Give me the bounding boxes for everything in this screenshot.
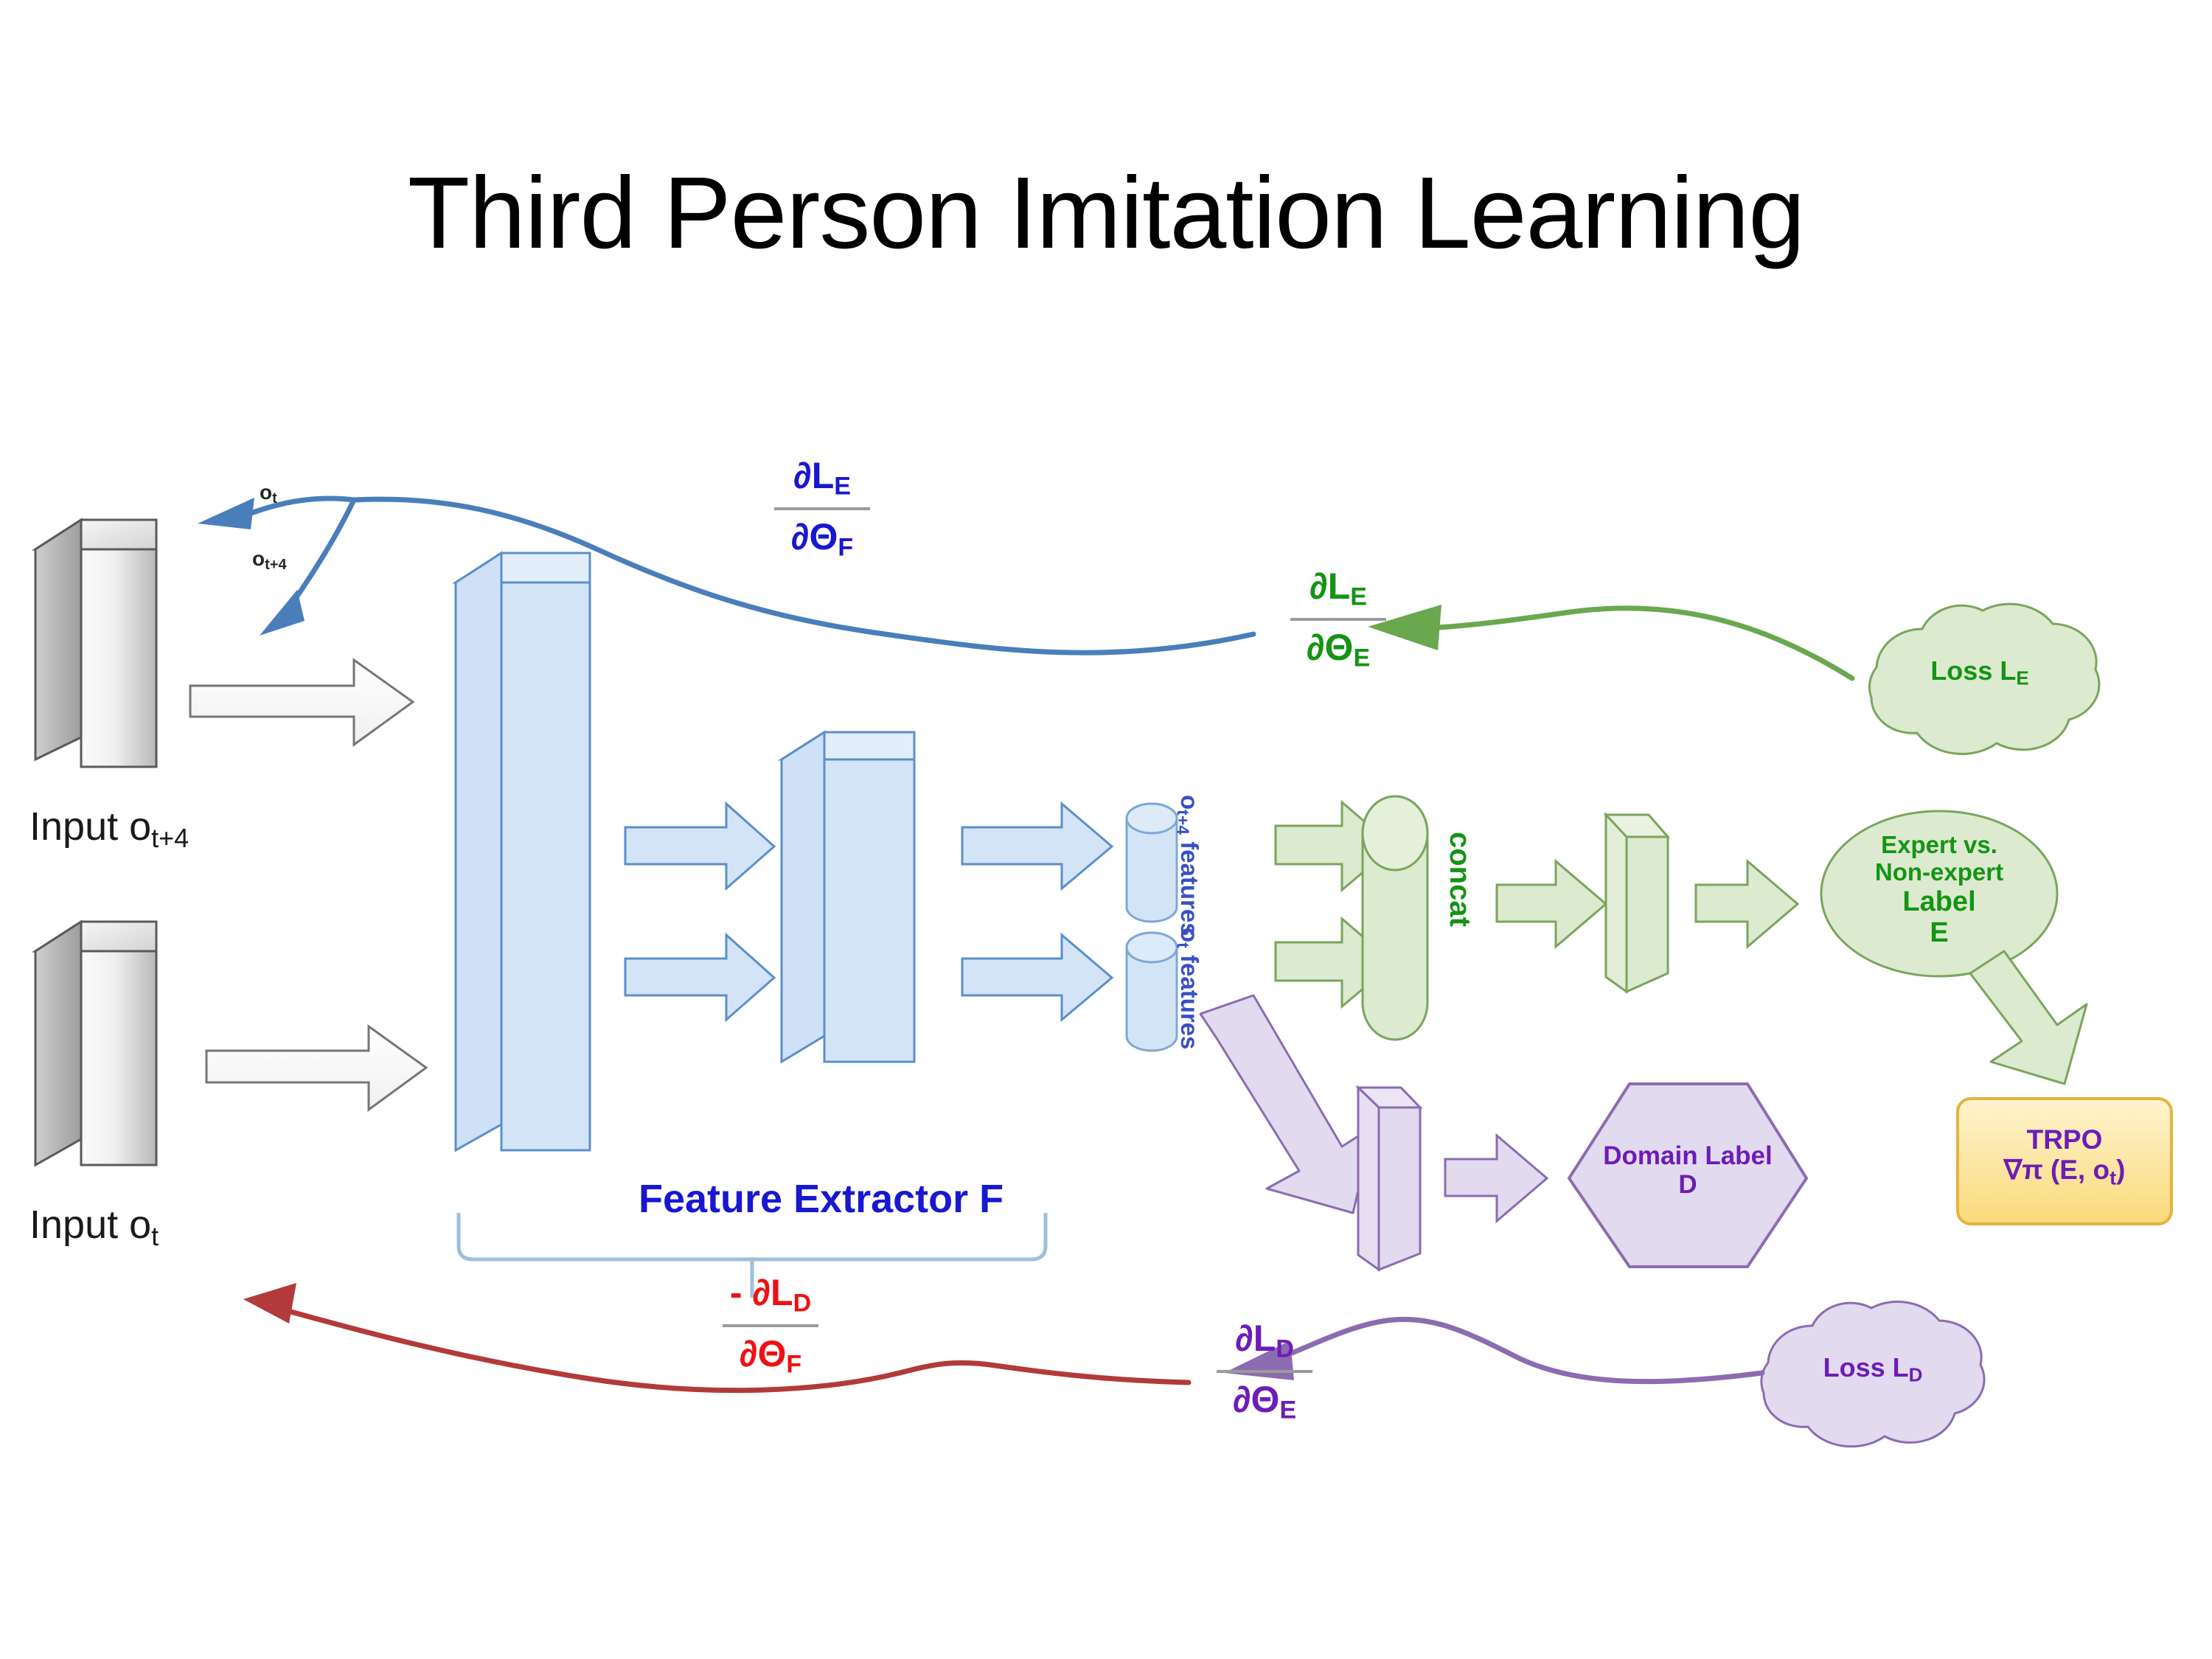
green-discriminator-plane xyxy=(1606,815,1668,992)
input-label-ot: Input ot xyxy=(29,1202,159,1252)
arrowhead-blue-ot xyxy=(198,498,254,529)
annotation-ot: ot xyxy=(260,481,277,507)
feature-cylinder-ot4 xyxy=(1127,804,1177,922)
arrow-layer1-to-layer2-top xyxy=(625,804,774,888)
concat-label: concat xyxy=(1443,832,1476,927)
annotation-ot4: ot+4 xyxy=(252,547,287,574)
arrow-layer2-to-features-bottom xyxy=(962,935,1112,1020)
loss-le-cloud xyxy=(1869,604,2098,754)
arrow-green-plane-to-expert-node xyxy=(1696,861,1798,947)
gradient-curve-purple xyxy=(1283,1319,1762,1381)
domain-label-hexagon xyxy=(1569,1084,1806,1267)
arrow-input-ot4-to-extractor xyxy=(190,660,413,745)
architecture-diagram xyxy=(0,0,2212,1659)
feature-label-ot4: ot+4 features xyxy=(1172,795,1203,936)
feature-extractor-layer-2 xyxy=(782,732,914,1062)
input-box-ot4 xyxy=(35,520,156,767)
fraction-dLE-dThetaE: ∂LE ∂ΘE xyxy=(1253,568,1423,670)
concat-capsule xyxy=(1363,796,1427,1040)
loss-ld-cloud xyxy=(1761,1301,1984,1446)
purple-discriminator-plane xyxy=(1358,1088,1420,1270)
arrow-purple-plane-to-domain-node xyxy=(1445,1135,1547,1221)
input-box-ot xyxy=(35,922,156,1165)
expert-label-ellipse xyxy=(1821,811,2057,976)
arrow-layer1-to-layer2-bottom xyxy=(625,935,774,1020)
input-label-ot4: Input ot+4 xyxy=(29,804,189,854)
gradient-curve-green xyxy=(1438,608,1852,678)
arrow-features-to-purple-plane xyxy=(1200,995,1373,1213)
arrow-layer2-to-features-top xyxy=(962,804,1112,888)
feature-label-ot: ot features xyxy=(1172,928,1203,1049)
feature-extractor-label: Feature Extractor F xyxy=(639,1176,1004,1222)
arrowhead-blue-ot4 xyxy=(260,590,305,636)
arrow-input-ot-to-extractor xyxy=(206,1026,426,1110)
slide-canvas: Third Person Imitation Learning xyxy=(0,0,2212,1659)
feature-extractor-layer-1 xyxy=(456,553,590,1150)
fraction-negdLD-dThetaF: - ∂LD ∂ΘF xyxy=(678,1274,863,1377)
arrow-expert-to-trpo xyxy=(1970,951,2087,1084)
trpo-box xyxy=(1958,1099,2171,1224)
fraction-dLE-dThetaF: ∂LE ∂ΘF xyxy=(737,457,907,560)
arrow-concat-to-green-plane xyxy=(1497,861,1606,947)
feature-cylinder-ot xyxy=(1127,933,1177,1051)
arrowhead-red xyxy=(243,1283,296,1324)
fraction-dLD-dThetaE: ∂LD ∂ΘE xyxy=(1180,1320,1349,1422)
